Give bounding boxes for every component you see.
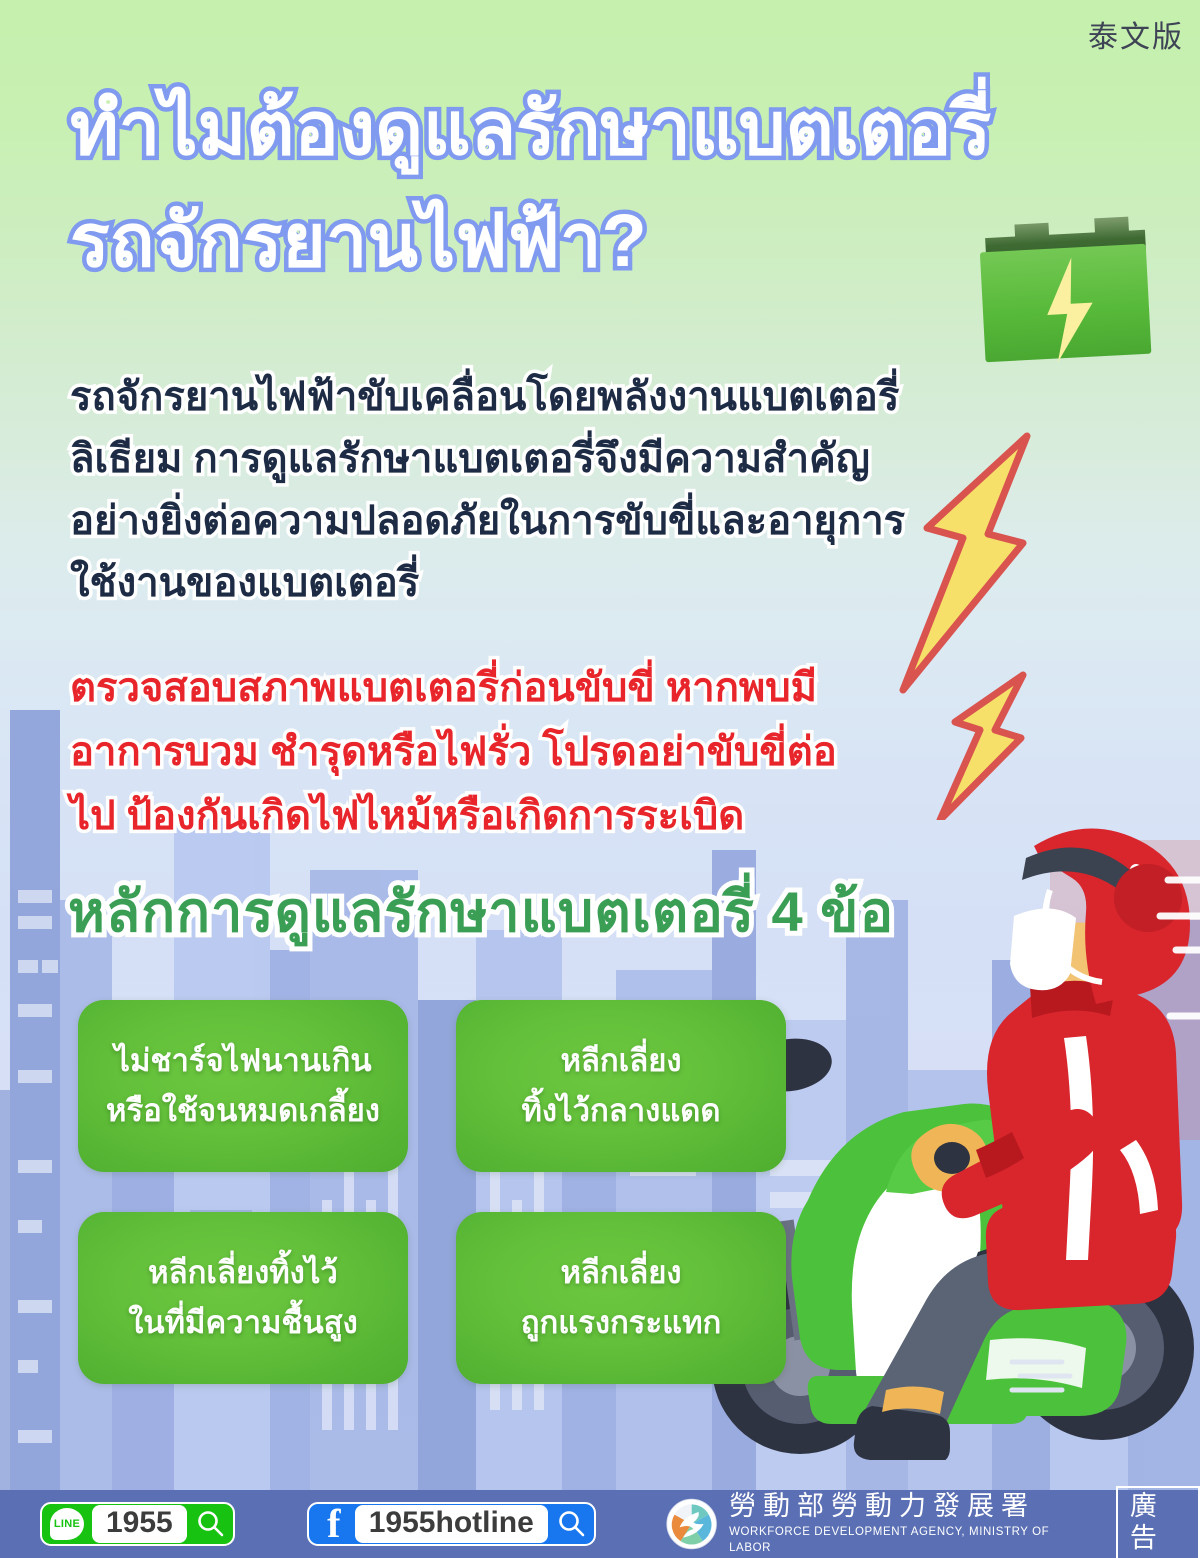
tip-2-line-1: หลีกเลี่ยง	[560, 1036, 681, 1086]
tip-2-line-2: ทิ้งไว้กลางแดด	[521, 1086, 720, 1136]
agency-branding: 勞動部勞動力發展署 WORKFORCE DEVELOPMENT AGENCY, …	[666, 1492, 1090, 1556]
tip-1-line-2: หรือใช้จนหมดเกลี้ยง	[106, 1086, 380, 1136]
intro-line-2: ลิเธียม การดูแลรักษาแบตเตอรี่จึงมีความสำ…	[70, 428, 930, 490]
warning-line-1: ตรวจสอบสภาพแบตเตอรี่ก่อนขับขี่ หากพบมี	[70, 656, 930, 720]
title-line-2: รถจักรยานไฟฟ้า?	[70, 198, 1030, 284]
ad-badge: 廣告	[1116, 1486, 1200, 1558]
intro-line-4: ใช้งานของแบตเตอรี่	[70, 552, 930, 614]
search-icon[interactable]	[556, 1509, 586, 1539]
agency-name-en: WORKFORCE DEVELOPMENT AGENCY, MINISTRY O…	[729, 1524, 1090, 1556]
title-line-1: ทำไมต้องดูแลรักษาแบตเตอรี่	[70, 86, 1030, 172]
tip-box-4[interactable]: หลีกเลี่ยง ถูกแรงกระแทก	[456, 1212, 786, 1384]
search-icon[interactable]	[195, 1509, 225, 1539]
tip-box-3[interactable]: หลีกเลี่ยงทิ้งไว้ ในที่มีความชื้นสูง	[78, 1212, 408, 1384]
intro-paragraph: รถจักรยานไฟฟ้าขับเคลื่อนโดยพลังงานแบตเตอ…	[70, 366, 930, 614]
agency-name-cn: 勞動部勞動力發展署	[729, 1492, 1090, 1522]
tip-box-2[interactable]: หลีกเลี่ยง ทิ้งไว้กลางแดด	[456, 1000, 786, 1172]
infographic-poster: 泰文版 ทำไมต้อง	[0, 0, 1200, 1558]
page-title: ทำไมต้องดูแลรักษาแบตเตอรี่ รถจักรยานไฟฟ้…	[70, 86, 1030, 284]
facebook-page-value: 1955hotline	[355, 1505, 548, 1543]
tip-3-line-2: ในที่มีความชื้นสูง	[128, 1298, 357, 1348]
tip-4-line-1: หลีกเลี่ยง	[560, 1248, 681, 1298]
intro-line-3: อย่างยิ่งต่อความปลอดภัยในการขับขี่และอาย…	[70, 490, 930, 552]
wda-logo-icon	[666, 1498, 717, 1550]
line-icon: LINE	[50, 1508, 84, 1540]
line-id-value: 1955	[92, 1505, 187, 1543]
tip-4-line-2: ถูกแรงกระแทก	[521, 1298, 722, 1348]
intro-line-1: รถจักรยานไฟฟ้าขับเคลื่อนโดยพลังงานแบตเตอ…	[70, 366, 930, 428]
tip-box-1[interactable]: ไม่ชาร์จไฟนานเกิน หรือใช้จนหมดเกลี้ยง	[78, 1000, 408, 1172]
footer-bar: LINE 1955 f 1955hotline	[0, 1490, 1200, 1558]
line-contact-pill[interactable]: LINE 1955	[40, 1502, 235, 1546]
facebook-contact-pill[interactable]: f 1955hotline	[307, 1502, 596, 1546]
language-tag: 泰文版	[1088, 12, 1184, 56]
facebook-icon: f	[317, 1504, 347, 1544]
tip-1-line-1: ไม่ชาร์จไฟนานเกิน	[114, 1036, 371, 1086]
tip-3-line-1: หลีกเลี่ยงทิ้งไว้	[148, 1248, 338, 1298]
warning-line-2: อาการบวม ชำรุดหรือไฟรั่ว โปรดอย่าขับขี่ต…	[70, 720, 930, 784]
